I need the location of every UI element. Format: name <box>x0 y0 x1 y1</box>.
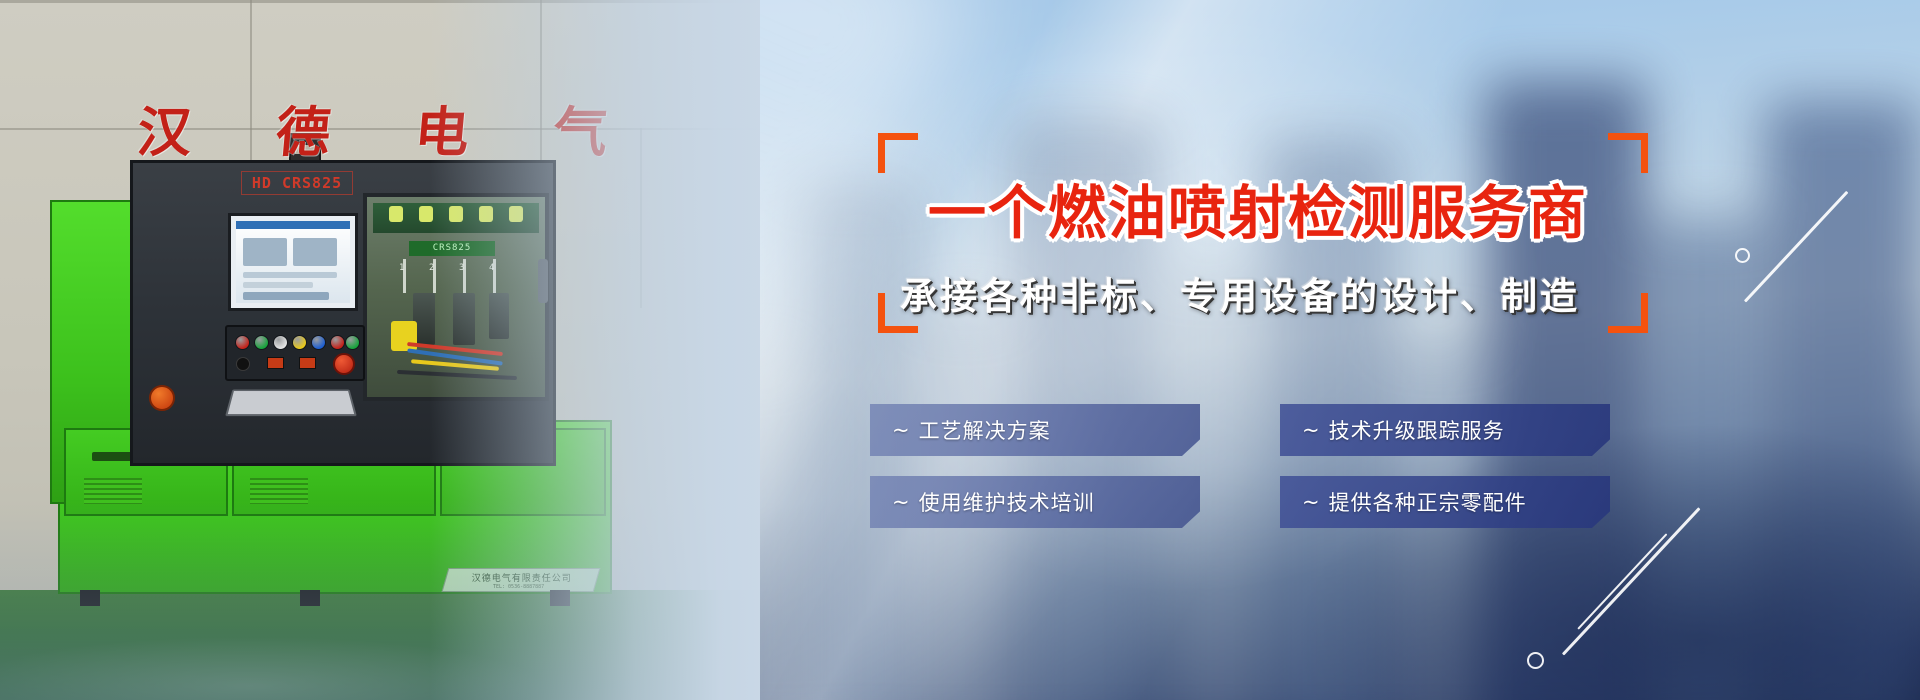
decor-circle <box>1527 652 1544 669</box>
feature-tag-list: ~工艺解决方案~技术升级跟踪服务~使用维护技术培训~提供各种正宗零配件 <box>870 404 1610 528</box>
building-slab <box>1650 220 1760 700</box>
feature-tag-label: 使用维护技术培训 <box>919 487 1095 517</box>
machine-foot <box>300 590 320 606</box>
product-photo: 汉德电气 HD CRS825 <box>0 0 760 700</box>
decor-circle <box>1735 248 1750 263</box>
tag-marker-icon: ~ <box>892 490 911 514</box>
wall-character: 气 <box>551 88 612 167</box>
chamber-channel-number: 4 <box>489 263 494 273</box>
feature-tag[interactable]: ~提供各种正宗零配件 <box>1280 476 1610 528</box>
machine-keyboard <box>225 389 357 416</box>
panel-push-button[interactable] <box>345 335 360 350</box>
corner-bracket-bottom-right <box>1608 293 1648 333</box>
wall-character: 电 <box>412 88 473 167</box>
wall-character: 汉 <box>135 88 196 167</box>
banner-subtitle: 承接各种非标、专用设备的设计、制造 <box>900 266 1580 320</box>
chamber-channel-number: 2 <box>429 263 434 273</box>
wall-character: 德 <box>273 88 334 167</box>
machine-vent <box>84 478 142 504</box>
tag-marker-icon: ~ <box>1302 418 1321 442</box>
screen-titlebar <box>236 221 350 229</box>
panel-selector-knob[interactable] <box>236 357 250 371</box>
emergency-stop-button[interactable] <box>333 353 355 375</box>
corner-bracket-top-right <box>1608 133 1648 173</box>
panel-push-button[interactable] <box>311 335 326 350</box>
machine-model-label: HD CRS825 <box>241 171 353 195</box>
feature-tag-label: 提供各种正宗零配件 <box>1329 487 1527 517</box>
machine-red-knob[interactable] <box>149 385 175 411</box>
machine-test-chamber-window: CRS825 1 2 3 4 <box>363 193 549 401</box>
machine-display-screen <box>228 213 358 311</box>
machine-foot <box>550 590 570 606</box>
tag-marker-icon: ~ <box>1302 490 1321 514</box>
nameplate-phone: TEL: 0536-8887887 <box>494 584 545 590</box>
chamber-channel-number: 1 <box>399 263 404 273</box>
feature-tag[interactable]: ~工艺解决方案 <box>870 404 1200 456</box>
banner-headline: 一个燃油喷射检测服务商 <box>928 166 1588 250</box>
panel-push-button[interactable] <box>254 335 269 350</box>
machine-vent <box>250 478 308 504</box>
corner-bracket-top-left <box>878 133 918 173</box>
panel-push-button[interactable] <box>273 335 288 350</box>
panel-led-display <box>299 357 316 369</box>
nameplate-company-name: 汉德电气有限责任公司 <box>472 571 572 584</box>
machine-button-panel <box>225 325 365 381</box>
building-slab <box>1765 100 1920 700</box>
feature-tag[interactable]: ~使用维护技术培训 <box>870 476 1200 528</box>
panel-led-display <box>267 357 284 369</box>
feature-tag-label: 工艺解决方案 <box>919 415 1051 445</box>
panel-push-button[interactable] <box>292 335 307 350</box>
panel-push-button[interactable] <box>235 335 250 350</box>
tag-marker-icon: ~ <box>892 418 911 442</box>
wall-calligraphy: 汉德电气 <box>135 88 612 167</box>
cabinet-door-handle[interactable] <box>538 259 548 303</box>
company-nameplate: 汉德电气有限责任公司 TEL: 0536-8887887 <box>442 568 601 592</box>
machine-control-cabinet: HD CRS825 <box>130 160 556 466</box>
feature-tag-label: 技术升级跟踪服务 <box>1329 415 1505 445</box>
panel-push-button[interactable] <box>330 335 345 350</box>
promo-banner: 汉德电气 HD CRS825 <box>0 0 1920 700</box>
chamber-channel-number: 3 <box>459 263 464 273</box>
chamber-model-label: CRS825 <box>409 241 495 256</box>
machine-foot <box>80 590 100 606</box>
feature-tag[interactable]: ~技术升级跟踪服务 <box>1280 404 1610 456</box>
test-bench-machine: HD CRS825 <box>50 160 670 620</box>
